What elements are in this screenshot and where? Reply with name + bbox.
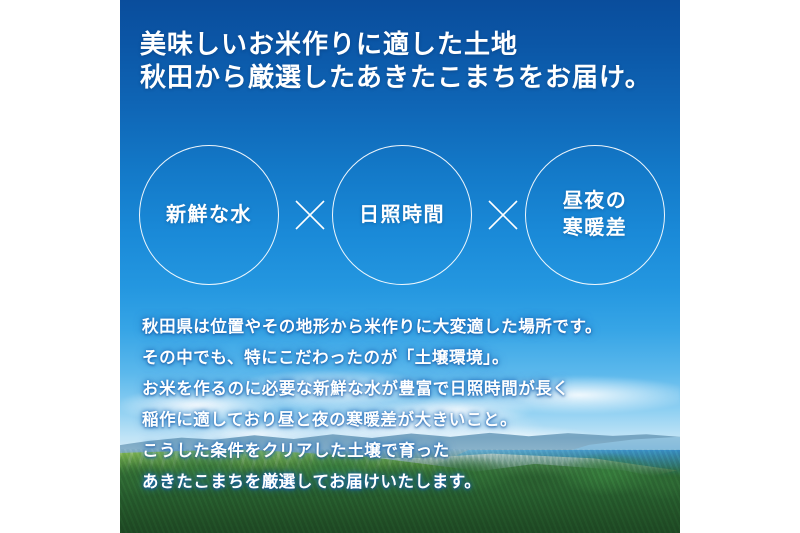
multiply-icon-1 [291,196,329,234]
body-copy-line-6: あきたこまちを厳選してお届けいたします。 [142,467,682,498]
factor-label-fresh-water: 新鮮な水 [166,202,252,229]
headline: 美味しいお米作りに適した土地 秋田から厳選したあきたこまちをお届け。 [140,28,680,94]
factor-label-temp-range: 昼夜の 寒暖差 [563,188,628,242]
body-copy-line-5: こうした条件をクリアした土壌で育った [142,436,682,467]
headline-line-2: 秋田から厳選したあきたこまちをお届け。 [140,61,680,94]
multiply-icon-2 [484,196,522,234]
body-copy-line-1: 秋田県は位置やその地形から米作りに大変適した場所です。 [142,312,682,343]
factor-circle-sunshine: 日照時間 [332,145,472,285]
body-copy-line-2: その中でも、特にこだわったのが「土壌環境」。 [142,343,682,374]
body-copy-line-3: お米を作るのに必要な新鮮な水が豊富で日照時間が長く [142,374,682,405]
factor-label-sunshine: 日照時間 [359,202,445,229]
body-copy: 秋田県は位置やその地形から米作りに大変適した場所です。 その中でも、特にこだわっ… [142,312,682,498]
promo-banner: 美味しいお米作りに適した土地 秋田から厳選したあきたこまちをお届け。 新鮮な水 … [0,0,800,533]
body-copy-line-4: 稲作に適しており昼と夜の寒暖差が大きいこと。 [142,405,682,436]
headline-line-1: 美味しいお米作りに適した土地 [140,28,680,61]
factor-circle-temp-range: 昼夜の 寒暖差 [525,145,665,285]
factor-circle-fresh-water: 新鮮な水 [139,145,279,285]
factor-label-temp-range-line-2: 寒暖差 [563,217,628,239]
factor-label-temp-range-line-1: 昼夜の [563,190,628,212]
factor-circles: 新鮮な水 日照時間 昼夜の 寒暖差 [120,145,680,287]
